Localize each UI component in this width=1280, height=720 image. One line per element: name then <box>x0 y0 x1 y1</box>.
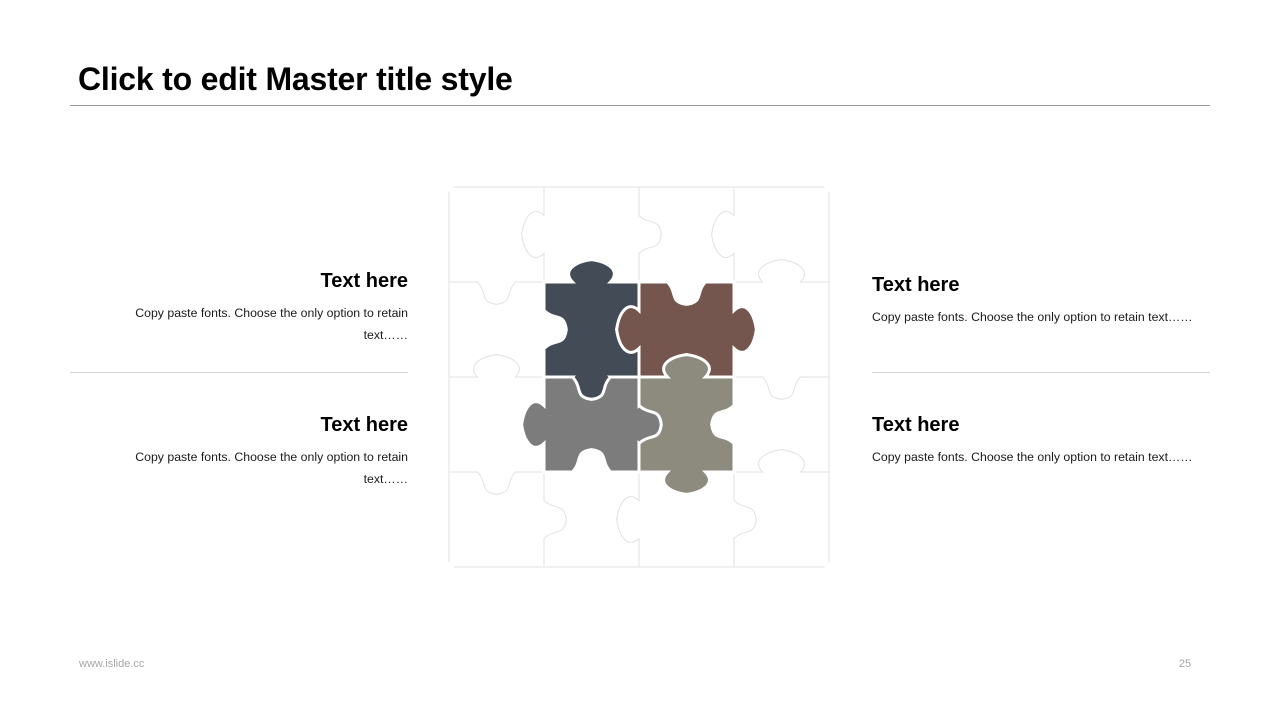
left-column-divider <box>70 372 408 373</box>
text-block-body: Copy paste fonts. Choose the only option… <box>872 307 1210 329</box>
right-column-divider <box>872 372 1210 373</box>
text-block-heading: Text here <box>70 414 408 437</box>
text-block-body: Copy paste fonts. Choose the only option… <box>70 303 408 347</box>
text-block-right-2: Text here Copy paste fonts. Choose the o… <box>872 414 1210 469</box>
title-underline-divider <box>70 105 1210 106</box>
puzzle-svg <box>447 185 833 571</box>
text-block-left-2: Text here Copy paste fonts. Choose the o… <box>70 414 408 491</box>
puzzle-colored-pieces <box>522 260 757 495</box>
footer-url: www.islide.cc <box>79 658 144 670</box>
page-number: 25 <box>1160 658 1210 670</box>
text-block-left-1: Text here Copy paste fonts. Choose the o… <box>70 270 408 347</box>
text-block-heading: Text here <box>872 274 1210 297</box>
text-block-right-1: Text here Copy paste fonts. Choose the o… <box>872 274 1210 329</box>
text-block-body: Copy paste fonts. Choose the only option… <box>70 447 408 491</box>
puzzle-illustration <box>447 185 833 571</box>
text-block-heading: Text here <box>70 270 408 293</box>
text-block-heading: Text here <box>872 414 1210 437</box>
text-block-body: Copy paste fonts. Choose the only option… <box>872 447 1210 469</box>
page-title: Click to edit Master title style <box>78 60 513 98</box>
